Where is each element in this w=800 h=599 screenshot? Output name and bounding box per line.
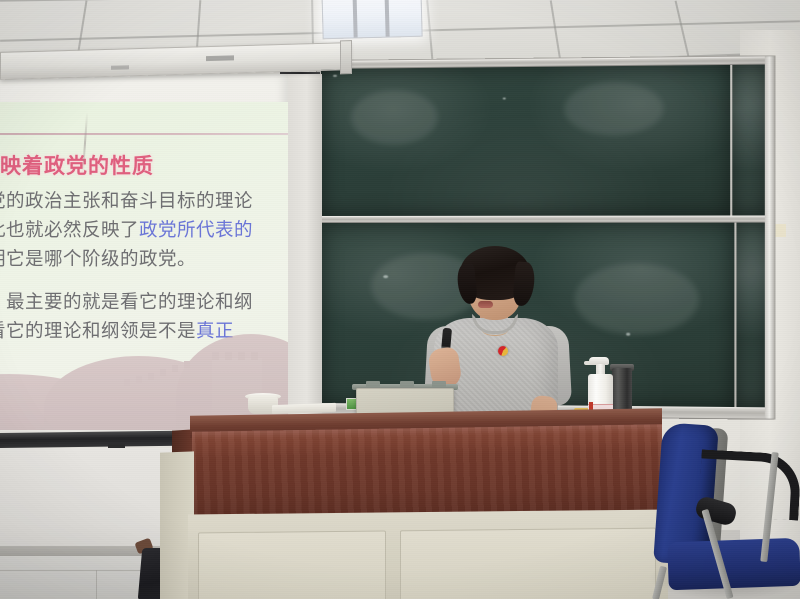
slide-header-text: 纲解读 bbox=[0, 108, 288, 128]
podium-front-panel bbox=[192, 424, 662, 521]
slide-title-text: 纲领反映着政党的性质 bbox=[0, 150, 154, 180]
slide-line-2: 观，因此也就必然反映了政党所代表的 bbox=[0, 215, 288, 244]
chalkboard-right-rail bbox=[765, 56, 774, 418]
housing-brand-mark bbox=[206, 55, 234, 61]
chalkboard-upper-right-panel bbox=[732, 65, 766, 217]
housing-end-cap bbox=[340, 40, 352, 74]
screen-blank-area bbox=[284, 74, 322, 440]
hair-right-side bbox=[512, 261, 536, 307]
podium-cabinet bbox=[188, 509, 668, 599]
ceiling-light-fixture bbox=[321, 0, 422, 39]
housing-label bbox=[111, 65, 129, 70]
presentation-slide: 纲解读 纲领反映着政党的性质 然是政党的政治主张和奋斗目标的理论 观，因此也就必… bbox=[0, 102, 288, 430]
chair-seat[interactable] bbox=[667, 538, 800, 591]
chalkboard-lower-right-panel bbox=[736, 223, 765, 410]
slide-line-3: 益益，表明它是哪个阶级的政党。，表明它是哪个阶级的政党。 bbox=[0, 244, 288, 273]
slide-line-4: 的性质，最主要的就是看它的理论和纲 bbox=[0, 287, 288, 316]
podium-cabinet-door-left[interactable] bbox=[198, 530, 386, 599]
necklace bbox=[482, 324, 508, 336]
podium-cabinet-door-right[interactable] bbox=[400, 528, 656, 599]
slide-line-1: 然是政党的政治主张和奋斗目标的理论 bbox=[0, 186, 288, 215]
lapel-pin-badge bbox=[498, 346, 508, 356]
slide-divider bbox=[0, 133, 288, 135]
projection-screen: 纲解读 纲领反映着政党的性质 然是政党的政治主张和奋斗目标的理论 观，因此也就必… bbox=[0, 74, 288, 436]
classroom-photo: 纲解读 纲领反映着政党的性质 然是政党的政治主张和奋斗目标的理论 观，因此也就必… bbox=[0, 0, 800, 599]
chalkboard-upper-panel bbox=[321, 65, 730, 217]
mouth bbox=[478, 301, 493, 308]
great-wall-illustration bbox=[0, 318, 288, 430]
